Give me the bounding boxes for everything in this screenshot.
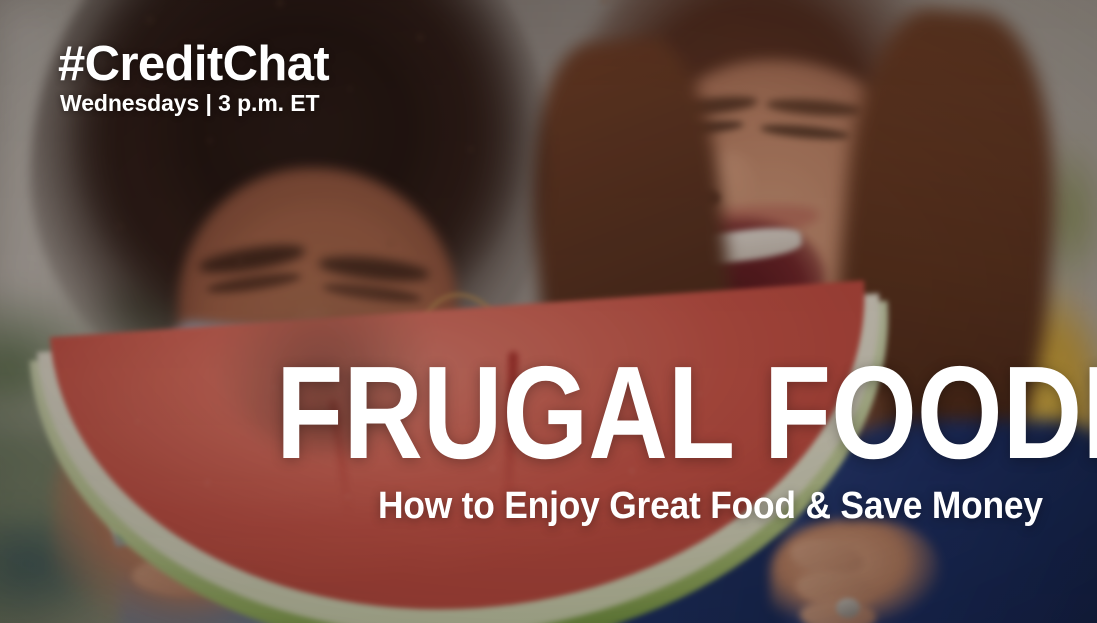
schedule-label: Wednesdays | 3 p.m. ET	[60, 92, 319, 115]
promo-banner: #CreditChat Wednesdays | 3 p.m. ET FRUGA…	[0, 0, 1097, 623]
hashtag-label: #CreditChat	[58, 40, 329, 89]
page-subtitle: How to Enjoy Great Food & Save Money	[378, 487, 1043, 525]
page-title: FRUGAL FOODIES	[276, 358, 936, 469]
